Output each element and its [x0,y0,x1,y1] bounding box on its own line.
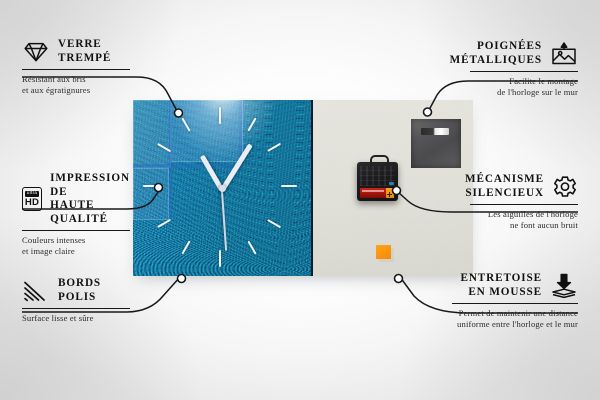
feature-divider [470,204,578,205]
feature-mecanisme-silencieux[interactable]: MÉCANISME SILENCIEUX Les aiguilles de l'… [470,173,578,231]
foam-spacer [376,245,391,259]
feature-title: ENTRETOISE EN MOUSSE [460,272,542,299]
feature-header: VERRE TREMPÉ [22,38,130,65]
glass-reflection-pane-3 [133,168,169,220]
feature-header: ENTRETOISE EN MOUSSE [452,272,578,299]
feature-divider [452,303,578,304]
arrow-down-onto-layers-icon [550,273,578,299]
feature-header: POIGNÉES MÉTALLIQUES [470,40,578,67]
feature-description: Facilite le montage de l'horloge sur le … [470,76,578,98]
feature-title: BORDS POLIS [58,277,101,304]
battery-plus-icon [389,192,391,197]
feature-description: Les aiguilles de l'horloge ne font aucun… [470,209,578,231]
framed-picture-hanging-icon [550,42,578,65]
ultra-hd-badge-icon: ultra HD [22,187,42,211]
battery [360,188,393,198]
feature-poignees-metalliques[interactable]: POIGNÉES MÉTALLIQUES Facilite le montage… [470,40,578,98]
clock-back-view [313,100,473,276]
glass-reflection-bar-horizontal [133,164,243,168]
clock-center-pivot [219,185,226,192]
feature-description: Couleurs intenses et image claire [22,235,130,257]
feature-title: IMPRESSION DE HAUTE QUALITÉ [50,172,130,226]
feature-divider [470,71,578,72]
infographic-canvas: VERRE TREMPÉ Résistant aux bris et aux é… [0,0,600,400]
feature-impression-haute-qualite[interactable]: ultra HD IMPRESSION DE HAUTE QUALITÉ Cou… [22,172,130,257]
feature-divider [22,230,130,231]
battery-label [362,190,384,192]
feature-entretoise-en-mousse[interactable]: ENTRETOISE EN MOUSSE Permet de maintenir… [452,272,578,330]
clock-front-view [133,100,313,276]
mechanism-indicator [389,182,394,185]
feature-description: Surface lisse et sûre [22,313,130,324]
feature-bords-polis[interactable]: BORDS POLIS Surface lisse et sûre [22,277,130,324]
feature-verre-trempe[interactable]: VERRE TREMPÉ Résistant aux bris et aux é… [22,38,130,96]
product-photo [133,100,473,276]
feature-divider [22,69,130,70]
feature-title: POIGNÉES MÉTALLIQUES [450,40,542,67]
feature-header: BORDS POLIS [22,277,130,304]
hanging-slot [421,128,449,135]
feature-title: VERRE TREMPÉ [58,38,111,65]
metal-hanging-plate [411,119,461,168]
light-burst-highlight [162,100,282,162]
diamond-icon [22,41,50,63]
feature-title: MÉCANISME SILENCIEUX [465,173,544,200]
polished-edge-stripes-icon [22,280,50,302]
feature-description: Permet de maintenir une distance uniform… [452,308,578,330]
mechanism-hook [370,155,389,166]
feature-header: MÉCANISME SILENCIEUX [470,173,578,200]
gear-icon [552,175,578,199]
feature-header: ultra HD IMPRESSION DE HAUTE QUALITÉ [22,172,130,226]
feature-description: Résistant aux bris et aux égratignures [22,74,130,96]
quartz-mechanism [357,162,398,201]
feature-divider [22,308,130,309]
